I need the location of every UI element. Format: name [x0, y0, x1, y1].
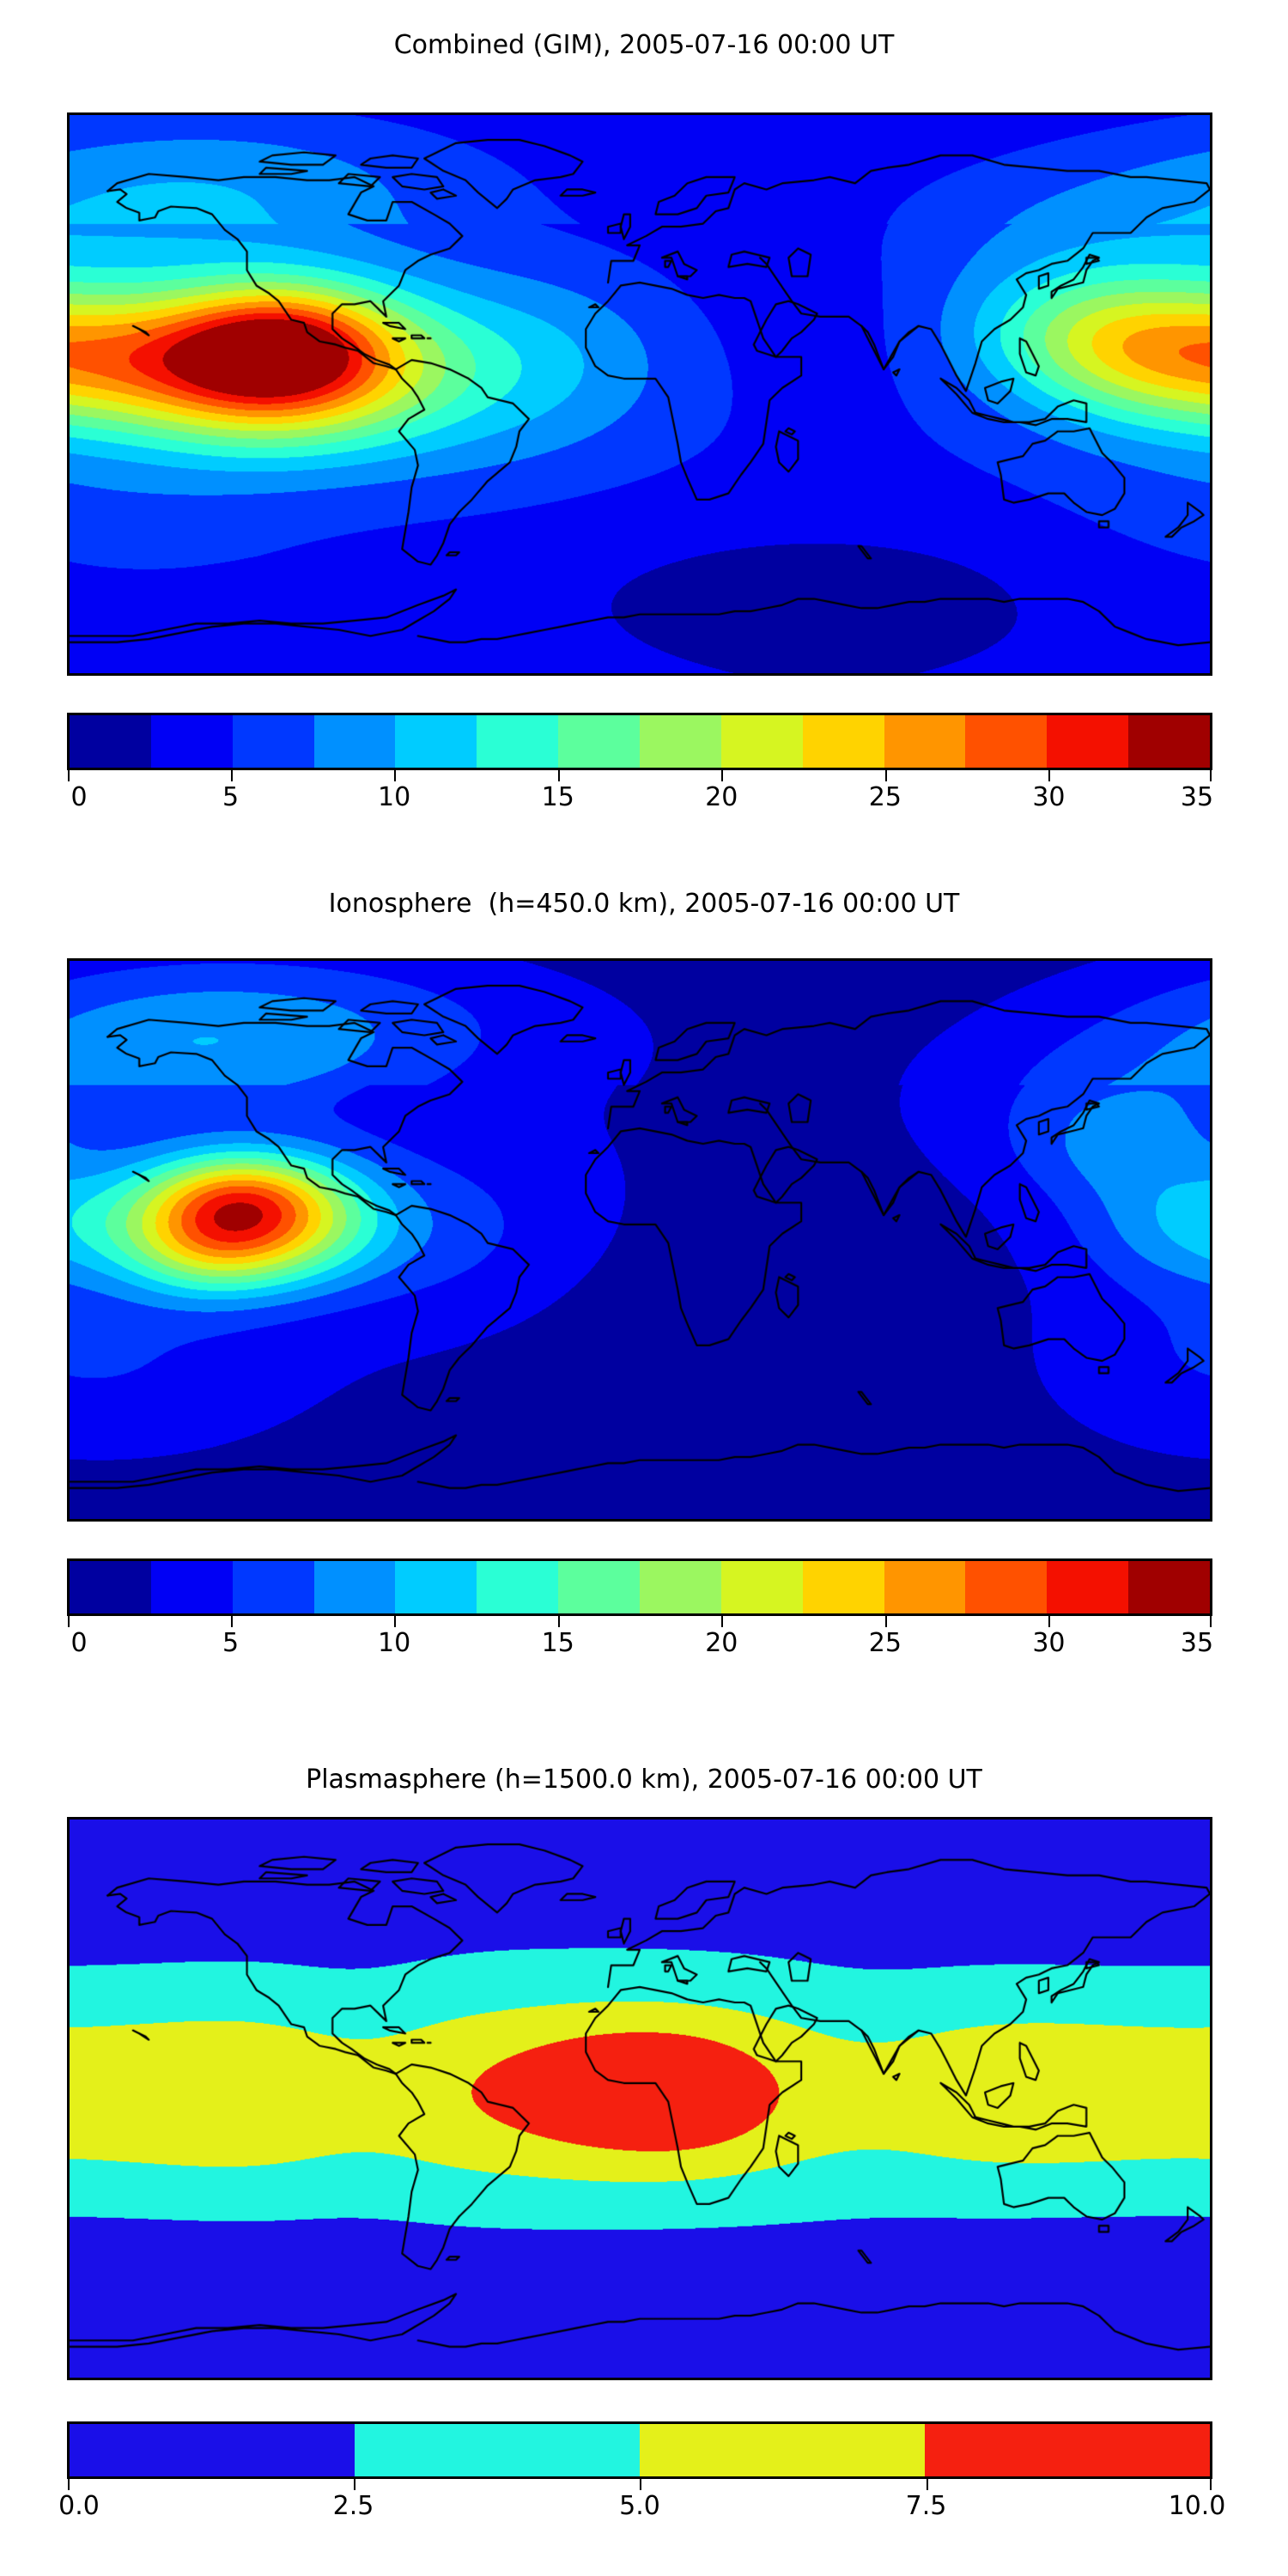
- panel-title-plasmasphere: Plasmasphere (h=1500.0 km), 2005-07-16 0…: [0, 1767, 1288, 1793]
- colorbar-plasmasphere: 0.02.55.07.510.0: [67, 2421, 1212, 2533]
- colorbar-tick: [354, 2479, 355, 2490]
- panel-ionosphere: Ionosphere (h=450.0 km), 2005-07-16 00:0…: [0, 859, 1288, 1717]
- colorbar-band-10: [884, 1561, 966, 1613]
- colorbar-ticklabel: 30: [1032, 785, 1065, 811]
- colorbar-axis-combined: [67, 770, 1212, 782]
- colorbar-band-5: [477, 1561, 558, 1613]
- figure-root: Combined (GIM), 2005-07-16 00:00 UT 0510…: [0, 0, 1288, 2576]
- colorbar-ticklabel: 10.0: [1169, 2494, 1226, 2519]
- colorbar-band-7: [640, 715, 721, 768]
- colorbar-combined: 05101520253035: [67, 713, 1212, 824]
- colorbar-tick: [885, 1616, 887, 1627]
- colorbar-ticklabel: 30: [1032, 1631, 1065, 1656]
- colorbar-ticklabel: 15: [542, 1631, 574, 1656]
- map-canvas-combined: [70, 115, 1210, 673]
- colorbar-tick: [1048, 1616, 1050, 1627]
- panel-plasmasphere: Plasmasphere (h=1500.0 km), 2005-07-16 0…: [0, 1717, 1288, 2576]
- colorbar-ticklabel: 15: [542, 785, 574, 811]
- colorbar-gradient-combined: [67, 713, 1212, 770]
- colorbar-ticklabel: 5.0: [619, 2494, 660, 2519]
- colorbar-band-0: [70, 715, 151, 768]
- colorbar-ticklabel: 20: [705, 785, 738, 811]
- colorbar-gradient-ionosphere: [67, 1558, 1212, 1616]
- colorbar-band-2: [233, 715, 314, 768]
- colorbar-ticklabel: 2.5: [333, 2494, 374, 2519]
- colorbar-band-3: [314, 1561, 396, 1613]
- colorbar-band-12: [1047, 715, 1128, 768]
- colorbar-band-2: [640, 2424, 925, 2476]
- colorbar-tick: [558, 1616, 560, 1627]
- colorbar-ticklabel: 35: [1181, 1631, 1213, 1656]
- panel-title-combined: Combined (GIM), 2005-07-16 00:00 UT: [0, 33, 1288, 58]
- colorbar-ticklabel: 0: [70, 785, 87, 811]
- map-ionosphere: [67, 958, 1212, 1522]
- colorbar-tick: [721, 770, 723, 781]
- colorbar-band-6: [558, 715, 640, 768]
- colorbar-tick: [1210, 2479, 1212, 2490]
- colorbar-band-1: [355, 2424, 640, 2476]
- colorbar-ticklabel: 5: [222, 785, 239, 811]
- colorbar-ticklabels-ionosphere: 05101520253035: [67, 1631, 1212, 1665]
- panel-title-ionosphere: Ionosphere (h=450.0 km), 2005-07-16 00:0…: [0, 891, 1288, 917]
- panel-combined-gim: Combined (GIM), 2005-07-16 00:00 UT 0510…: [0, 0, 1288, 859]
- colorbar-ticklabel: 7.5: [906, 2494, 947, 2519]
- colorbar-tick: [721, 1616, 723, 1627]
- map-combined-gim: [67, 112, 1212, 676]
- colorbar-band-9: [803, 715, 884, 768]
- colorbar-band-4: [395, 715, 477, 768]
- colorbar-band-13: [1128, 715, 1210, 768]
- colorbar-band-13: [1128, 1561, 1210, 1613]
- map-canvas-plasmasphere: [70, 1820, 1210, 2378]
- colorbar-ticklabel: 10: [378, 785, 410, 811]
- colorbar-ionosphere: 05101520253035: [67, 1558, 1212, 1670]
- map-canvas-ionosphere: [70, 961, 1210, 1519]
- colorbar-axis-plasmasphere: [67, 2479, 1212, 2491]
- colorbar-band-11: [965, 1561, 1047, 1613]
- colorbar-ticklabel: 10: [378, 1631, 410, 1656]
- colorbar-band-6: [558, 1561, 640, 1613]
- colorbar-band-3: [925, 2424, 1210, 2476]
- colorbar-tick: [68, 2479, 70, 2490]
- colorbar-tick: [231, 770, 233, 781]
- colorbar-ticklabel: 25: [869, 785, 902, 811]
- colorbar-tick: [927, 2479, 928, 2490]
- colorbar-band-8: [721, 715, 803, 768]
- colorbar-band-1: [151, 715, 233, 768]
- colorbar-band-3: [314, 715, 396, 768]
- colorbar-tick: [68, 770, 70, 781]
- colorbar-tick: [68, 1616, 70, 1627]
- colorbar-ticklabel: 5: [222, 1631, 239, 1656]
- colorbar-tick: [394, 1616, 396, 1627]
- colorbar-tick: [1048, 770, 1050, 781]
- colorbar-band-10: [884, 715, 966, 768]
- colorbar-tick: [885, 770, 887, 781]
- map-plasmasphere: [67, 1817, 1212, 2380]
- colorbar-band-2: [233, 1561, 314, 1613]
- colorbar-band-4: [395, 1561, 477, 1613]
- colorbar-ticklabel: 0: [70, 1631, 87, 1656]
- colorbar-tick: [558, 770, 560, 781]
- colorbar-ticklabels-plasmasphere: 0.02.55.07.510.0: [67, 2494, 1212, 2528]
- colorbar-gradient-plasmasphere: [67, 2421, 1212, 2479]
- colorbar-band-5: [477, 715, 558, 768]
- colorbar-band-8: [721, 1561, 803, 1613]
- colorbar-ticklabel: 0.0: [58, 2494, 100, 2519]
- colorbar-tick: [394, 770, 396, 781]
- colorbar-band-0: [70, 1561, 151, 1613]
- colorbar-band-7: [640, 1561, 721, 1613]
- colorbar-axis-ionosphere: [67, 1616, 1212, 1628]
- colorbar-tick: [640, 2479, 641, 2490]
- colorbar-band-12: [1047, 1561, 1128, 1613]
- colorbar-ticklabels-combined: 05101520253035: [67, 785, 1212, 819]
- colorbar-ticklabel: 25: [869, 1631, 902, 1656]
- colorbar-tick: [231, 1616, 233, 1627]
- colorbar-band-1: [151, 1561, 233, 1613]
- colorbar-tick: [1210, 770, 1212, 781]
- colorbar-band-11: [965, 715, 1047, 768]
- colorbar-ticklabel: 35: [1181, 785, 1213, 811]
- colorbar-band-0: [70, 2424, 355, 2476]
- colorbar-ticklabel: 20: [705, 1631, 738, 1656]
- colorbar-tick: [1210, 1616, 1212, 1627]
- colorbar-band-9: [803, 1561, 884, 1613]
